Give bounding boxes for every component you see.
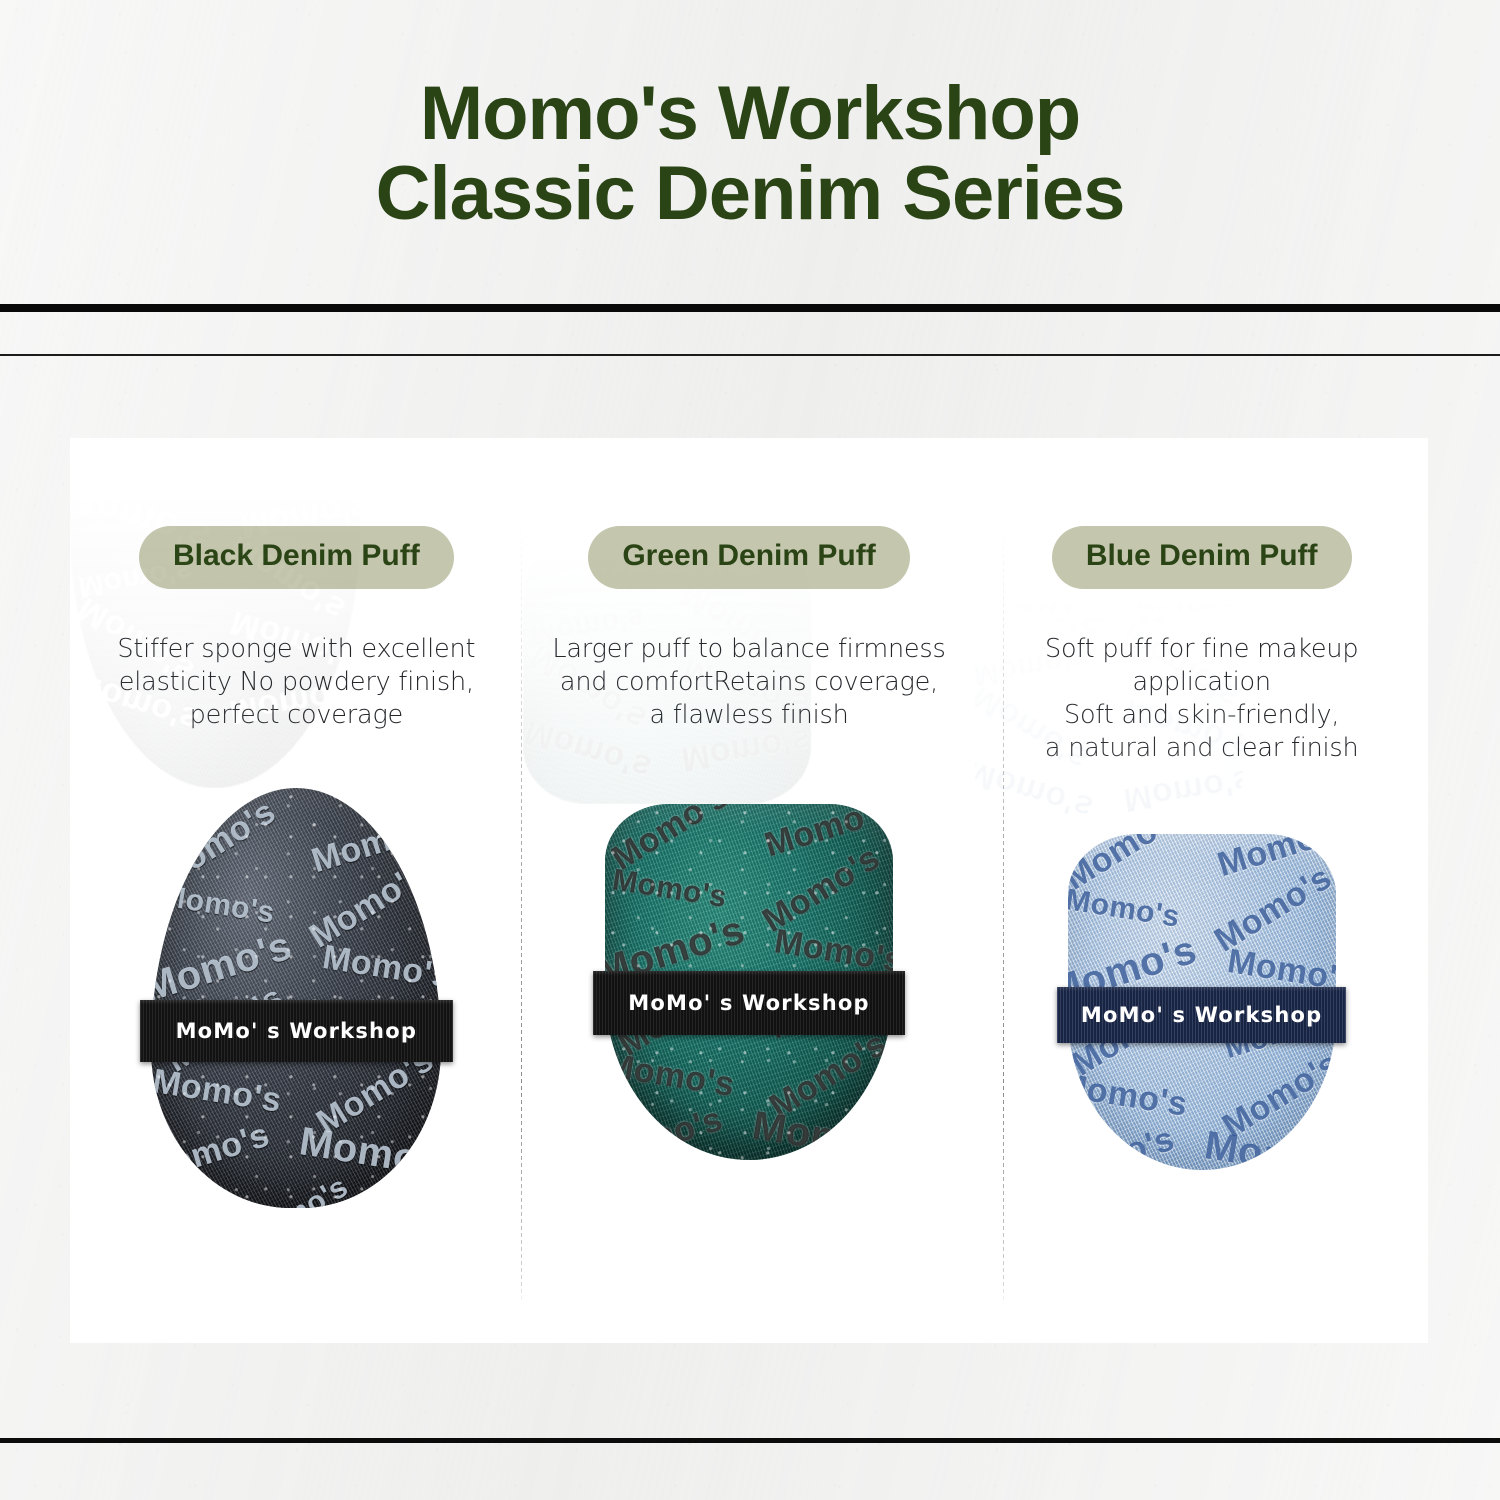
product-column-black: Black Denim Puff Stiffer sponge with exc… <box>70 438 523 1343</box>
description-line: a flawless finish <box>549 699 949 732</box>
description-line: and comfortRetains coverage, <box>549 666 949 699</box>
description-line: Soft puff for fine makeup <box>1002 633 1402 666</box>
footer-divider <box>0 1438 1500 1443</box>
product-stage-blue: Momo'sMomo'sMomo's Momo'sMomo'sMomo's Mo… <box>975 834 1428 1170</box>
page-title-line-2: Classic Denim Series <box>376 154 1125 234</box>
product-columns: Black Denim Puff Stiffer sponge with exc… <box>70 438 1428 1343</box>
description-black: Stiffer sponge with excellent elasticity… <box>96 633 496 732</box>
product-stage-black: Momo'sMomo'sMomo's Momo'sMomo'sMomo's Mo… <box>70 788 523 1208</box>
pill-label-blue: Blue Denim Puff <box>1052 526 1352 589</box>
brand-band-green: MoMo' s Workshop <box>593 971 904 1035</box>
description-blue: Soft puff for fine makeup application So… <box>1002 633 1402 765</box>
product-stage-green: Momo'sMomo'sMomo's Momo'sMomo'sMomo's Mo… <box>523 804 976 1160</box>
pill-label-black: Black Denim Puff <box>139 526 454 589</box>
brand-band-black: MoMo' s Workshop <box>140 1000 453 1062</box>
reflection-green: Momo'sMomo'sMomo's Momo'sMomo'sMomo's Mo… <box>523 448 976 804</box>
description-line: Stiffer sponge with excellent <box>96 633 496 666</box>
brand-band-blue: MoMo' s Workshop <box>1057 987 1346 1043</box>
description-line: elasticity No powdery finish, <box>96 666 496 699</box>
fabric-sparkle <box>151 788 441 1208</box>
product-column-green: Green Denim Puff Larger puff to balance … <box>523 438 976 1343</box>
black-puff-body: Momo'sMomo'sMomo's Momo'sMomo'sMomo's Mo… <box>151 788 441 1208</box>
black-denim-puff[interactable]: Momo'sMomo'sMomo's Momo'sMomo'sMomo's Mo… <box>151 788 441 1208</box>
green-denim-puff[interactable]: Momo'sMomo'sMomo's Momo'sMomo'sMomo's Mo… <box>605 804 893 1160</box>
content-panel: Black Denim Puff Stiffer sponge with exc… <box>70 438 1428 1343</box>
description-line: a natural and clear finish <box>1002 732 1402 765</box>
product-column-blue: Blue Denim Puff Soft puff for fine makeu… <box>975 438 1428 1343</box>
header-divider-thin <box>0 354 1500 356</box>
description-line: Larger puff to balance firmness <box>549 633 949 666</box>
description-line: perfect coverage <box>96 699 496 732</box>
page-header: Momo's Workshop Classic Denim Series <box>0 0 1500 308</box>
blue-denim-puff[interactable]: Momo'sMomo'sMomo's Momo'sMomo'sMomo's Mo… <box>1068 834 1336 1170</box>
description-line: application <box>1002 666 1402 699</box>
pill-label-green: Green Denim Puff <box>588 526 909 589</box>
description-line: Soft and skin-friendly, <box>1002 699 1402 732</box>
page-title-line-1: Momo's Workshop <box>420 74 1080 154</box>
header-divider-thick <box>0 304 1500 312</box>
description-green: Larger puff to balance firmness and comf… <box>549 633 949 732</box>
